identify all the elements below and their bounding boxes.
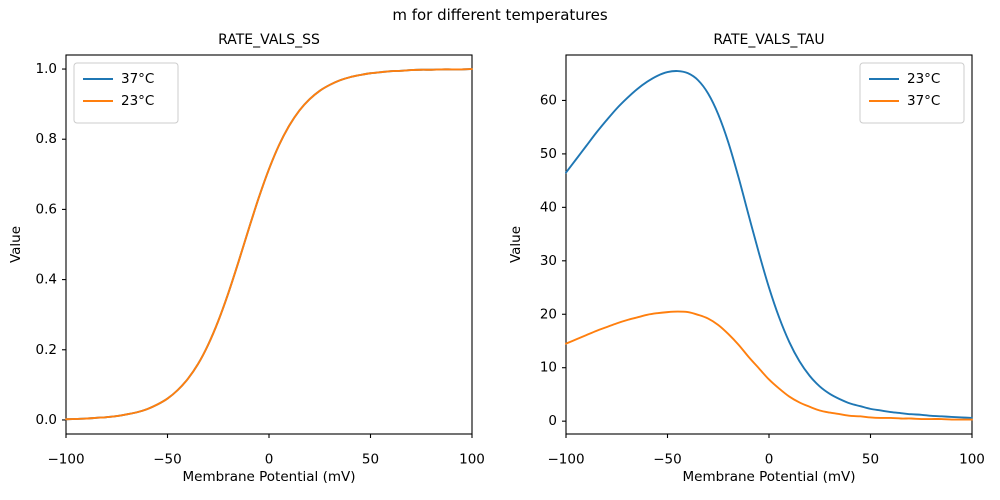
legend-label: 23°C xyxy=(907,71,940,87)
x-tick-label: 100 xyxy=(459,452,485,468)
y-tick-label: 0.0 xyxy=(36,412,57,428)
y-tick-label: 60 xyxy=(540,92,557,108)
y-tick-label: 0 xyxy=(548,413,557,429)
legend-tau[interactable]: 23°C37°C xyxy=(860,63,964,123)
x-tick-label: 50 xyxy=(862,452,879,468)
x-tick-label: 0 xyxy=(265,452,274,468)
axes-right: −100−500501000102030405060Membrane Poten… xyxy=(500,0,1000,500)
x-tick-label: −50 xyxy=(653,452,682,468)
y-axis-label: Value xyxy=(508,226,524,263)
x-tick-label: 50 xyxy=(362,452,379,468)
y-tick-label: 10 xyxy=(540,360,557,376)
figure-canvas: m for different temperatures −100−500501… xyxy=(0,0,1000,500)
subplot-title: RATE_VALS_TAU xyxy=(713,32,824,48)
y-tick-label: 20 xyxy=(540,306,557,322)
y-tick-label: 0.6 xyxy=(36,201,57,217)
x-tick-label: 100 xyxy=(959,452,985,468)
x-tick-label: −100 xyxy=(547,452,584,468)
subplot-title: RATE_VALS_SS xyxy=(218,32,320,48)
y-tick-label: 50 xyxy=(540,146,557,162)
x-tick-label: −100 xyxy=(47,452,84,468)
legend-label: 37°C xyxy=(121,71,154,87)
y-tick-label: 30 xyxy=(540,253,557,269)
subplot-rate-vals-ss: −100−500501000.00.20.40.60.81.0Membrane … xyxy=(0,0,500,500)
x-axis-label: Membrane Potential (mV) xyxy=(682,469,855,485)
x-tick-label: 0 xyxy=(765,452,774,468)
y-tick-label: 0.4 xyxy=(36,272,57,288)
axes-left: −100−500501000.00.20.40.60.81.0Membrane … xyxy=(0,0,500,500)
y-tick-label: 0.8 xyxy=(36,131,57,147)
y-tick-label: 1.0 xyxy=(36,61,57,77)
y-axis-label: Value xyxy=(8,226,24,263)
x-axis-label: Membrane Potential (mV) xyxy=(182,469,355,485)
data-curve-tau-1 xyxy=(566,312,972,420)
subplot-rate-vals-tau: −100−500501000102030405060Membrane Poten… xyxy=(500,0,1000,500)
y-tick-label: 40 xyxy=(540,199,557,215)
y-tick-label: 0.2 xyxy=(36,342,57,358)
legend-label: 37°C xyxy=(907,93,940,109)
legend-ss[interactable]: 37°C23°C xyxy=(74,63,178,123)
legend-label: 23°C xyxy=(121,93,154,109)
x-tick-label: −50 xyxy=(153,452,182,468)
